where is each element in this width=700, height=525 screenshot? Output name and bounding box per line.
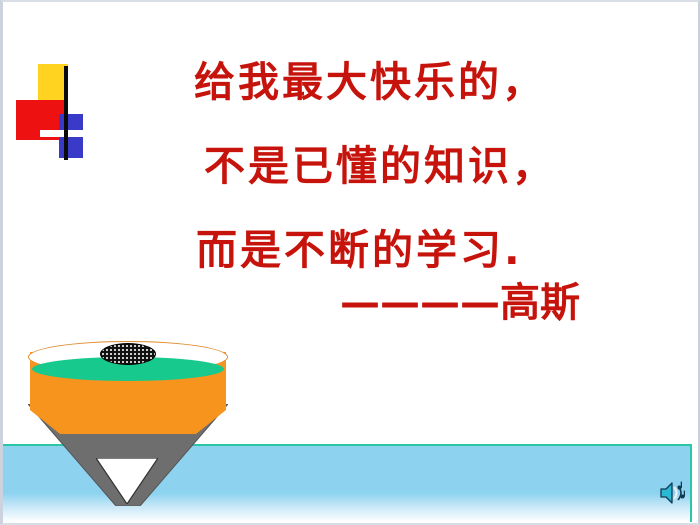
logo-white-divider: [40, 130, 86, 137]
sieve-mesh-icon: [100, 343, 156, 365]
funnel-illustration: [18, 336, 238, 514]
quote-line-3: 而是不断的学习.: [196, 230, 640, 271]
logo-blue-square-upper: [59, 114, 83, 131]
quote-text-block: 给我最大快乐的， 不是已懂的知识， 而是不断的学习. ————高斯: [150, 62, 640, 323]
speaker-music-icon[interactable]: [658, 478, 688, 508]
logo-black-vertical-bar: [64, 66, 68, 160]
quote-line-1: 给我最大快乐的，: [194, 62, 640, 103]
logo-blue-square-lower: [59, 136, 83, 158]
quote-attribution: ————高斯: [150, 283, 640, 323]
funnel-tip: [96, 458, 158, 504]
mondrian-logo: [16, 64, 96, 160]
presentation-slide: 给我最大快乐的， 不是已懂的知识， 而是不断的学习. ————高斯: [0, 0, 700, 525]
quote-line-2: 不是已懂的知识，: [204, 146, 640, 187]
